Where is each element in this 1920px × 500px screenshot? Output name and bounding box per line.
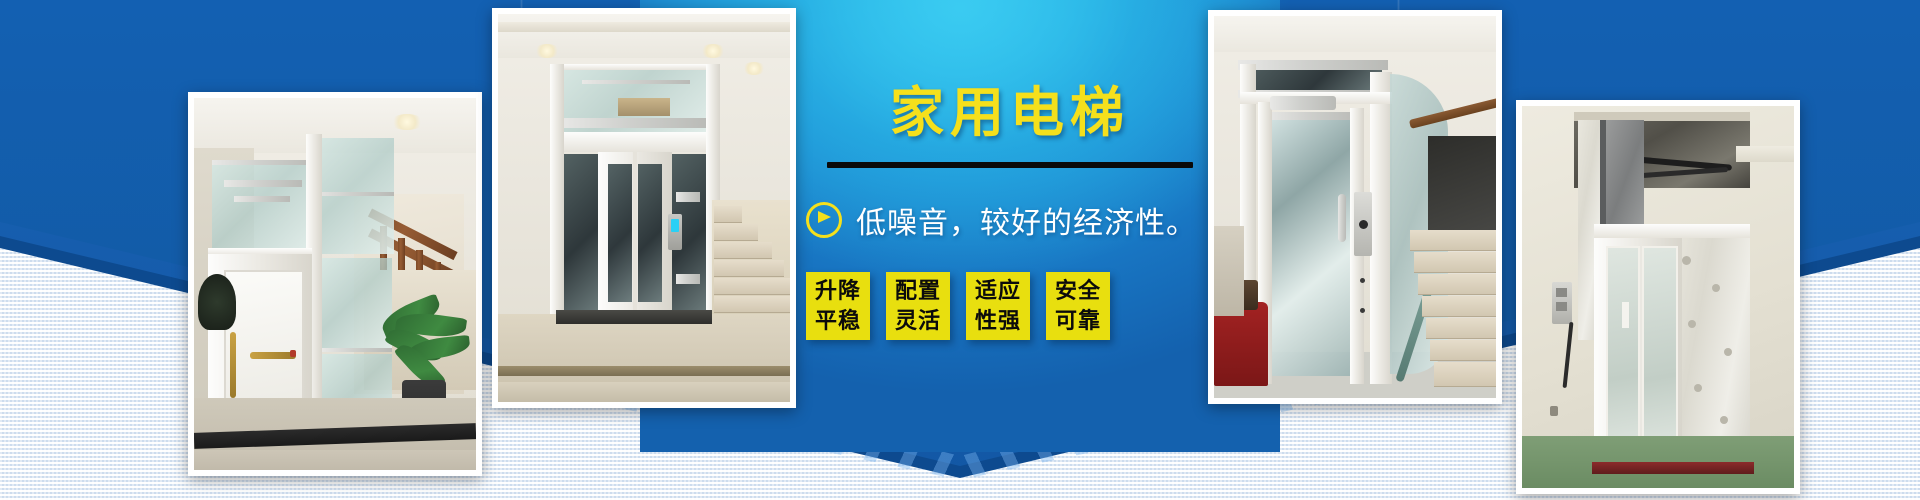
- title-divider: [827, 162, 1193, 168]
- banner-content: 家用电梯 低噪音，较好的经济性。 升降 平稳 配置 灵活 适应 性强 安全 可靠: [800, 86, 1220, 340]
- feature-tag-line1: 安全: [1055, 276, 1101, 306]
- feature-tag-line1: 配置: [895, 276, 941, 306]
- photo-card-4: [1516, 100, 1800, 494]
- feature-tag-strong-adaptability[interactable]: 适应 性强: [966, 272, 1030, 340]
- photo-card-1: [188, 92, 482, 476]
- feature-tag-line1: 适应: [975, 276, 1021, 306]
- photo-card-3: [1208, 10, 1502, 404]
- feature-tag-list: 升降 平稳 配置 灵活 适应 性强 安全 可靠: [800, 272, 1220, 340]
- circled-play-arrow-icon: [806, 202, 842, 238]
- photo-elevator-under-installation-with-protective-film: [1522, 106, 1794, 488]
- feature-tag-line2: 灵活: [895, 306, 941, 336]
- photo-glass-shaft-elevator-with-staircase-and-plant: [194, 98, 476, 470]
- feature-tag-line2: 可靠: [1055, 306, 1101, 336]
- feature-tag-line1: 升降: [815, 276, 861, 306]
- subtitle-row: 低噪音，较好的经济性。: [800, 198, 1220, 242]
- feature-tag-line2: 平稳: [815, 306, 861, 336]
- page-title: 家用电梯: [800, 86, 1220, 140]
- subtitle-text: 低噪音，较好的经济性。: [856, 198, 1197, 242]
- photo-white-double-door-elevator-in-hallway: [498, 14, 790, 402]
- feature-tag-safe-reliable[interactable]: 安全 可靠: [1046, 272, 1110, 340]
- photo-card-2: [492, 8, 796, 408]
- feature-tag-lifting-stability[interactable]: 升降 平稳: [806, 272, 870, 340]
- home-elevator-promo-banner: 家用电梯 低噪音，较好的经济性。 升降 平稳 配置 灵活 适应 性强 安全 可靠: [0, 0, 1920, 500]
- photo-glass-cabin-elevator-beside-marble-stairs: [1214, 16, 1496, 398]
- feature-tag-line2: 性强: [975, 306, 1021, 336]
- feature-tag-flexible-configuration[interactable]: 配置 灵活: [886, 272, 950, 340]
